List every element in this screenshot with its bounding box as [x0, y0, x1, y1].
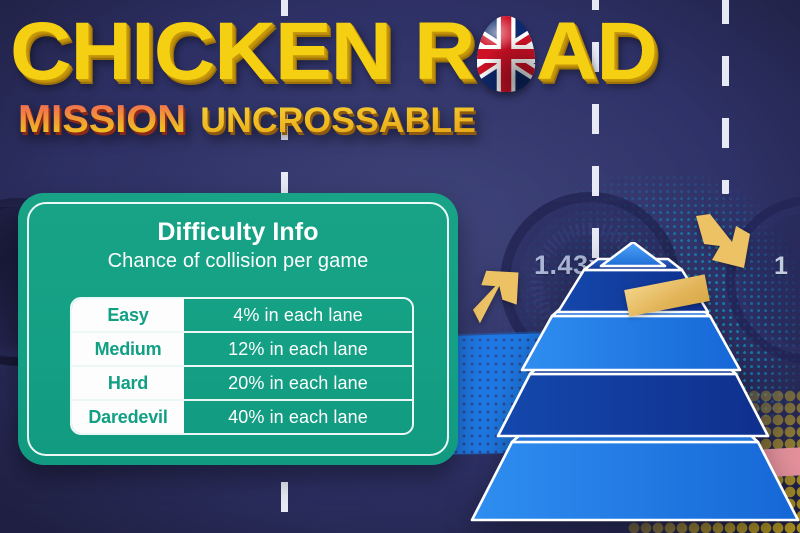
table-row: Easy 4% in each lane — [72, 299, 412, 331]
headline: CHICKEN R AD — [10, 4, 800, 100]
subtitle-uncrossable: UNCROSSABLE — [200, 101, 476, 140]
card-title: Difficulty Info — [18, 218, 458, 247]
subtitle: MISSIONUNCROSSABLE — [18, 98, 476, 142]
difficulty-name: Hard — [72, 367, 184, 399]
difficulty-name: Medium — [72, 333, 184, 365]
promo-banner: 1.43x 1 — [0, 0, 800, 533]
page-title: CHICKEN R AD — [10, 13, 657, 91]
difficulty-name: Easy — [72, 299, 184, 331]
table-row: Hard 20% in each lane — [72, 365, 412, 399]
difficulty-value: 20% in each lane — [184, 367, 412, 399]
difficulty-value: 4% in each lane — [184, 299, 412, 331]
title-part-2: AD — [536, 13, 657, 91]
subtitle-mission: MISSION — [18, 98, 186, 141]
difficulty-name: Daredevil — [72, 401, 184, 433]
difficulty-table: Easy 4% in each lane Medium 12% in each … — [70, 297, 414, 435]
table-row: Medium 12% in each lane — [72, 331, 412, 365]
difficulty-value: 12% in each lane — [184, 333, 412, 365]
card-subtitle: Chance of collision per game — [18, 250, 458, 273]
arrow-up-right-icon — [466, 264, 528, 326]
difficulty-info-card: Difficulty Info Chance of collision per … — [18, 193, 458, 465]
difficulty-value: 40% in each lane — [184, 401, 412, 433]
arrow-down-right-icon — [688, 212, 760, 284]
title-part-1: CHICKEN R — [10, 13, 474, 91]
table-row: Daredevil 40% in each lane — [72, 399, 412, 433]
uk-flag-egg-icon — [477, 16, 535, 92]
card-header: Difficulty Info Chance of collision per … — [18, 218, 458, 273]
